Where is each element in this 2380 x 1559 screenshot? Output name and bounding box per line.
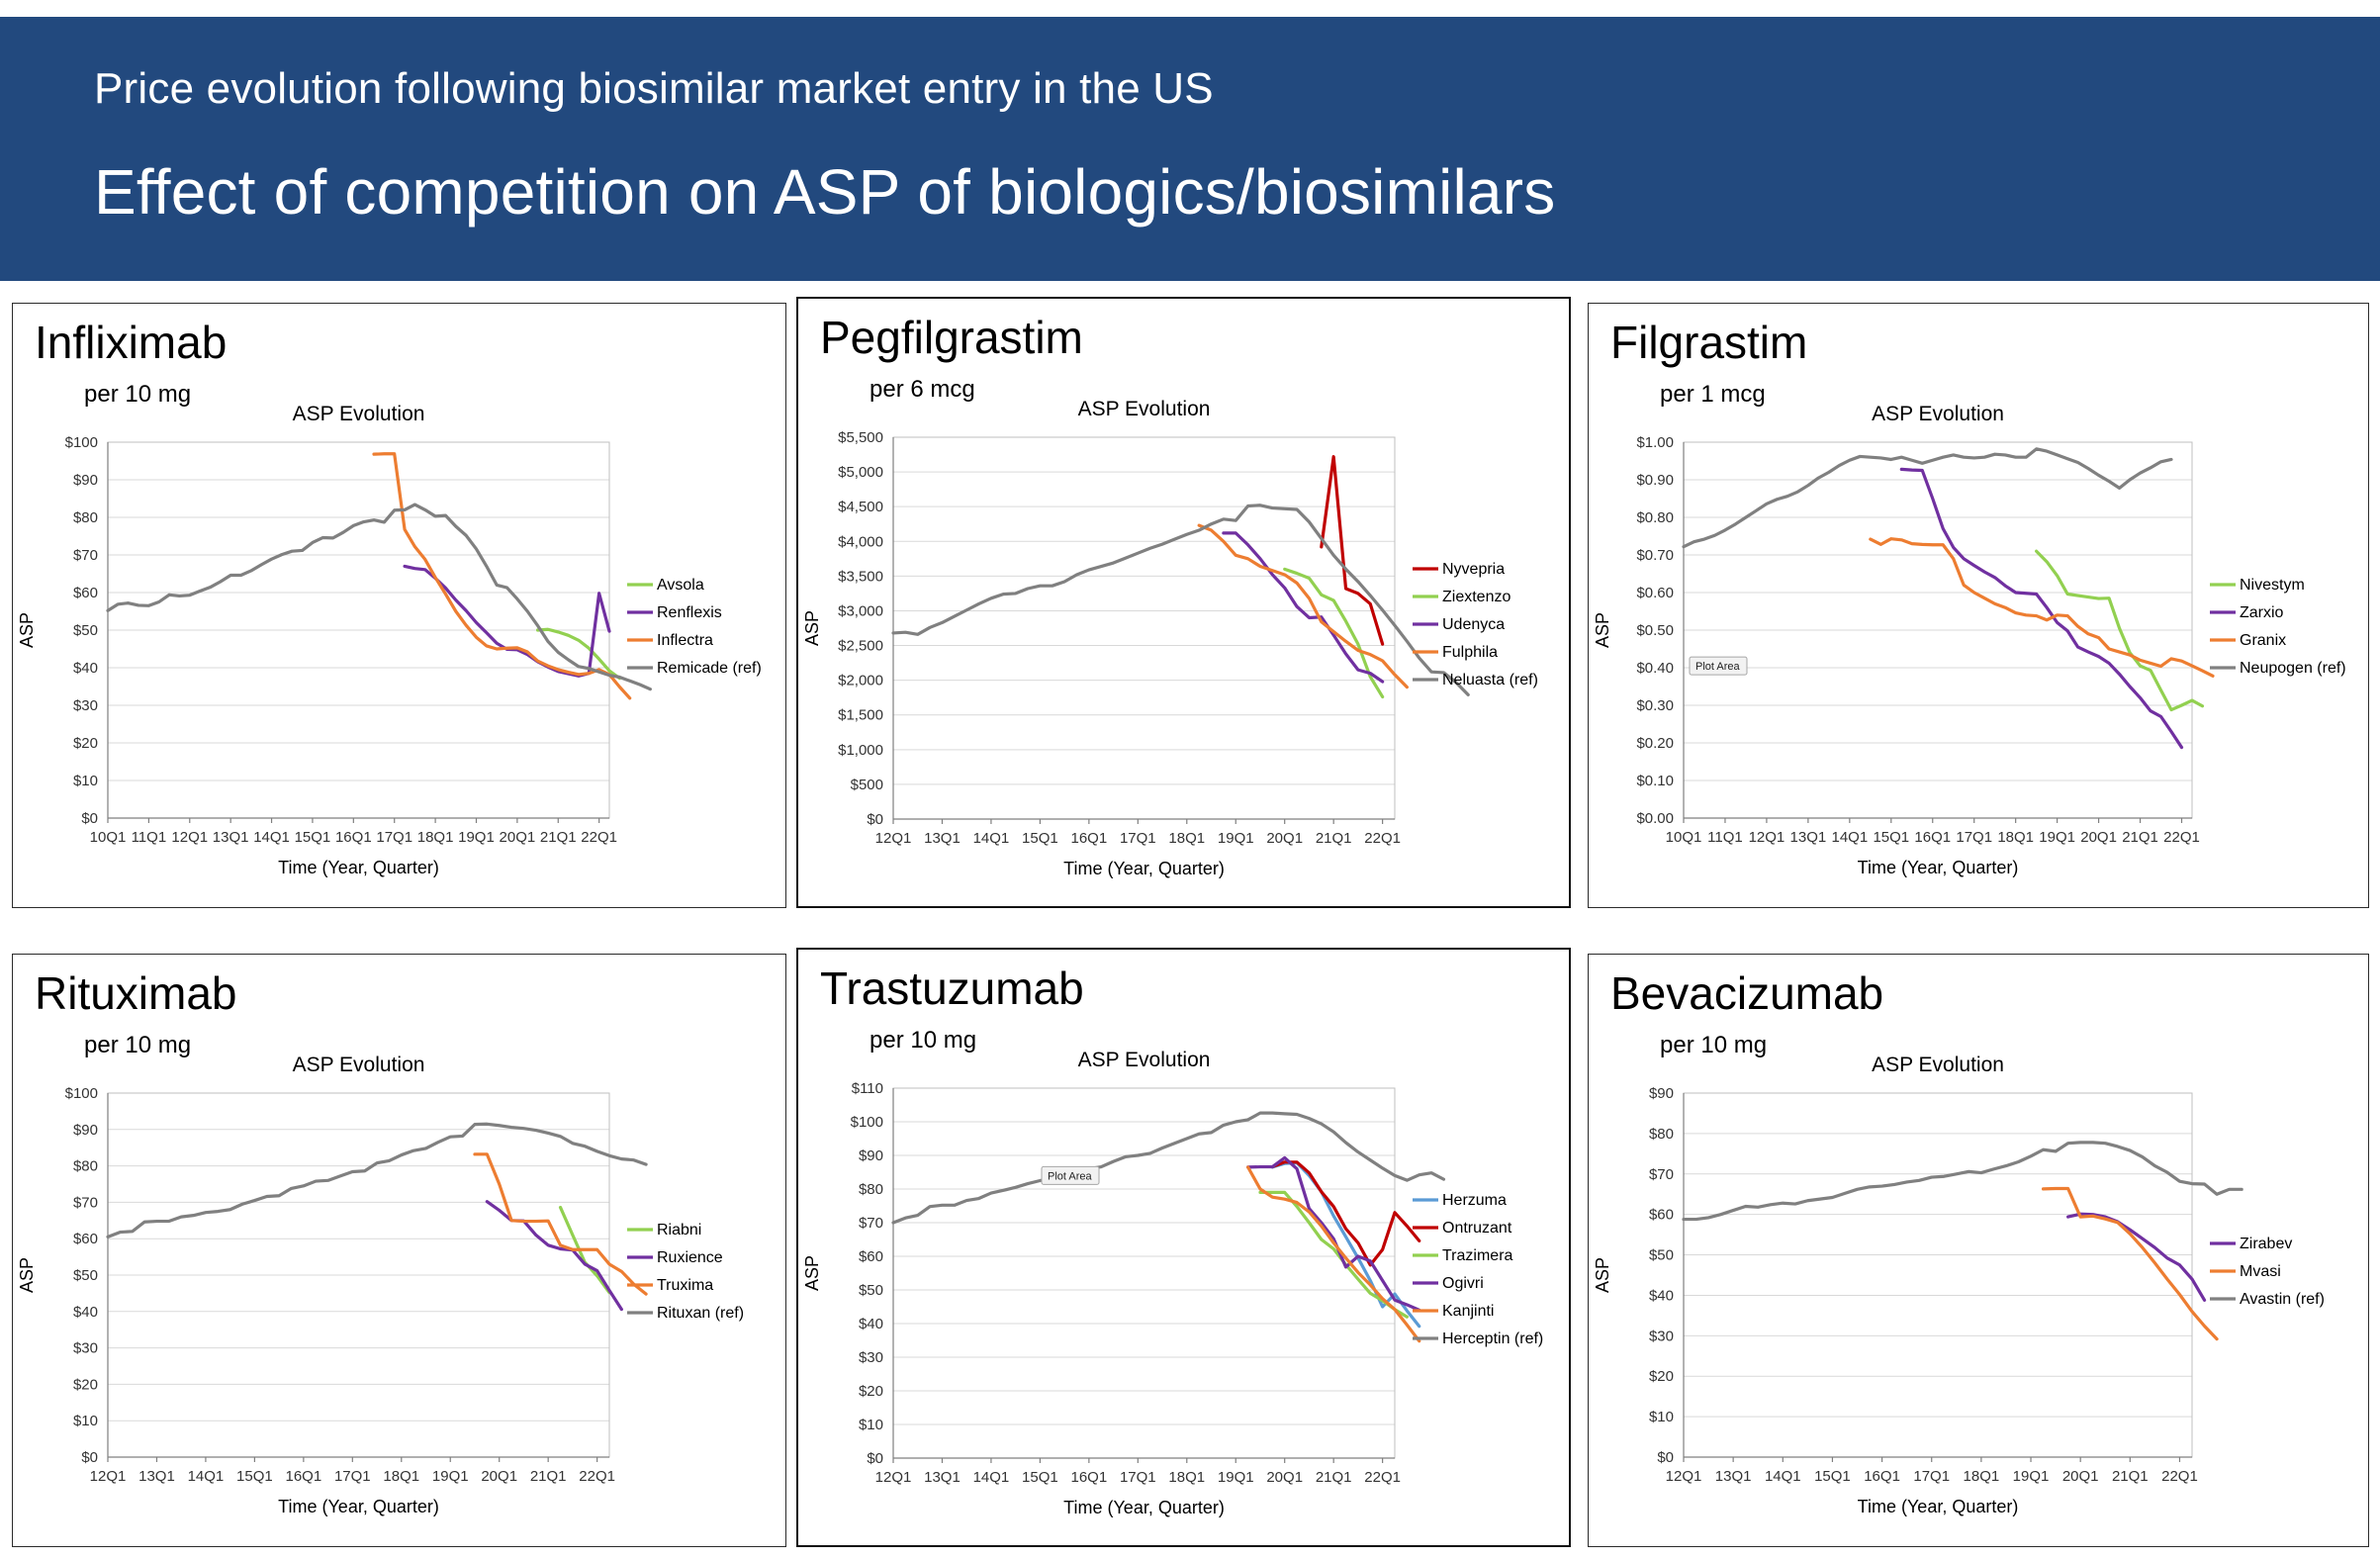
plot-area-frame: [893, 437, 1395, 819]
x-axis-tick-label: 17Q1: [334, 1468, 371, 1485]
y-axis-tick-label: $4,000: [838, 533, 883, 550]
y-axis-tick-label: $20: [859, 1383, 883, 1400]
y-axis-tick-label: $60: [73, 1231, 98, 1247]
series-line-neluasta-ref: [893, 505, 1468, 695]
legend-label-kanjinti[interactable]: Kanjinti: [1442, 1303, 1494, 1320]
asp-evolution-chart: ASP Evolution$0$500$1,000$1,500$2,000$2,…: [798, 394, 1569, 896]
x-axis-tick-label: 22Q1: [2161, 1468, 2198, 1485]
y-axis-tick-label: $10: [1649, 1409, 1674, 1425]
series-line-zirabev: [2068, 1214, 2205, 1300]
legend-label-neluasta-ref[interactable]: Neluasta (ref): [1442, 672, 1538, 688]
y-axis-tick-label: $20: [1649, 1368, 1674, 1385]
y-axis-tick-label: $80: [1649, 1126, 1674, 1143]
x-axis-tick-label: 22Q1: [2163, 829, 2200, 846]
x-axis-tick-label: 20Q1: [1266, 830, 1303, 847]
plot-area-frame: [1684, 1093, 2192, 1457]
x-axis-tick-label: 15Q1: [295, 829, 331, 846]
y-axis-tick-label: $70: [73, 547, 98, 564]
x-axis-label: Time (Year, Quarter): [1063, 859, 1225, 878]
y-axis-label: ASP: [802, 1255, 822, 1291]
x-axis-tick-label: 13Q1: [924, 830, 961, 847]
y-axis-tick-label: $90: [859, 1147, 883, 1164]
x-axis-tick-label: 15Q1: [1814, 1468, 1851, 1485]
panel-title-bevacizumab: Bevacizumab: [1610, 966, 1883, 1020]
legend-label-remicade-ref[interactable]: Remicade (ref): [657, 660, 762, 677]
x-axis-tick-label: 21Q1: [540, 829, 577, 846]
y-axis-tick-label: $0: [867, 811, 883, 828]
x-axis-tick-label: 19Q1: [1218, 830, 1254, 847]
x-axis-tick-label: 21Q1: [530, 1468, 567, 1485]
panel-title-infliximab: Infliximab: [35, 316, 227, 369]
legend-label-nyvepria[interactable]: Nyvepria: [1442, 561, 1505, 578]
x-axis-tick-label: 20Q1: [1266, 1469, 1303, 1486]
x-axis-tick-label: 16Q1: [1864, 1468, 1900, 1485]
y-axis-tick-label: $80: [73, 509, 98, 526]
y-axis-tick-label: $20: [73, 735, 98, 752]
chart-holder-trastuzumab: ASP Evolution$0$10$20$30$40$50$60$70$80$…: [798, 1045, 1569, 1535]
plot-area-tooltip-label: Plot Area: [1048, 1170, 1093, 1182]
legend-label-ziextenzo[interactable]: Ziextenzo: [1442, 589, 1510, 605]
x-axis-tick-label: 17Q1: [1913, 1468, 1950, 1485]
asp-evolution-chart: ASP Evolution$0.00$0.10$0.20$0.30$0.40$0…: [1589, 399, 2366, 895]
x-axis-tick-label: 14Q1: [188, 1468, 225, 1485]
y-axis-label: ASP: [17, 612, 37, 648]
x-axis-tick-label: 16Q1: [1071, 830, 1108, 847]
x-axis-tick-label: 18Q1: [417, 829, 454, 846]
panel-filgrastim: Filgrastimper 1 mcgASP Evolution$0.00$0.…: [1588, 303, 2369, 908]
y-axis-tick-label: $1.00: [1636, 434, 1674, 451]
y-axis-tick-label: $30: [1649, 1328, 1674, 1344]
header-subtitle: Price evolution following biosimilar mar…: [94, 64, 1214, 114]
y-axis-tick-label: $0.10: [1636, 773, 1674, 789]
panel-trastuzumab: Trastuzumabper 10 mgASP Evolution$0$10$2…: [796, 948, 1571, 1547]
y-axis-tick-label: $80: [73, 1158, 98, 1175]
panel-rituximab: Rituximabper 10 mgASP Evolution$0$10$20$…: [12, 954, 786, 1547]
chart-holder-filgrastim: ASP Evolution$0.00$0.10$0.20$0.30$0.40$0…: [1589, 399, 2368, 895]
y-axis-tick-label: $500: [851, 777, 883, 793]
series-line-neupogen-ref: [1684, 449, 2171, 547]
legend-label-herzuma[interactable]: Herzuma: [1442, 1192, 1507, 1209]
y-axis-tick-label: $80: [859, 1181, 883, 1198]
legend-label-granix[interactable]: Granix: [2240, 632, 2286, 649]
series-line-truxima: [475, 1154, 646, 1294]
x-axis-tick-label: 14Q1: [973, 1469, 1010, 1486]
legend-label-udenyca[interactable]: Udenyca: [1442, 616, 1505, 633]
series-line-herceptin-ref: [893, 1113, 1443, 1223]
panel-infliximab: Infliximabper 10 mgASP Evolution$0$10$20…: [12, 303, 786, 908]
series-line-udenyca: [1224, 533, 1383, 682]
x-axis-tick-label: 19Q1: [2013, 1468, 2050, 1485]
y-axis-tick-label: $0.80: [1636, 509, 1674, 526]
legend-label-ogivri[interactable]: Ogivri: [1442, 1275, 1484, 1292]
x-axis-tick-label: 20Q1: [481, 1468, 517, 1485]
legend-label-zarxio[interactable]: Zarxio: [2240, 604, 2284, 621]
x-axis-tick-label: 20Q1: [2062, 1468, 2099, 1485]
series-line-avastin-ref: [1684, 1143, 2242, 1220]
y-axis-tick-label: $2,000: [838, 673, 883, 689]
x-axis-tick-label: 18Q1: [383, 1468, 419, 1485]
y-axis-tick-label: $0.50: [1636, 622, 1674, 639]
chart-title: ASP Evolution: [1078, 1049, 1211, 1071]
y-axis-tick-label: $0: [81, 810, 98, 827]
x-axis-tick-label: 20Q1: [500, 829, 536, 846]
y-axis-tick-label: $110: [852, 1080, 883, 1097]
series-line-mvasi: [2044, 1189, 2218, 1339]
legend-label-ruxience[interactable]: Ruxience: [657, 1249, 723, 1266]
panel-title-pegfilgrastim: Pegfilgrastim: [820, 311, 1083, 364]
x-axis-tick-label: 14Q1: [973, 830, 1010, 847]
chart-title: ASP Evolution: [293, 403, 425, 425]
chart-holder-bevacizumab: ASP Evolution$0$10$20$30$40$50$60$70$80$…: [1589, 1050, 2368, 1534]
x-axis-tick-label: 11Q1: [1707, 829, 1743, 846]
legend-label-fulphila[interactable]: Fulphila: [1442, 644, 1498, 661]
x-axis-tick-label: 14Q1: [253, 829, 290, 846]
header-title: Effect of competition on ASP of biologic…: [94, 155, 1555, 229]
y-axis-tick-label: $70: [859, 1215, 883, 1232]
x-axis-tick-label: 12Q1: [171, 829, 208, 846]
x-axis-tick-label: 19Q1: [1218, 1469, 1254, 1486]
legend-label-ontruzant[interactable]: Ontruzant: [1442, 1220, 1512, 1237]
chart-holder-pegfilgrastim: ASP Evolution$0$500$1,000$1,500$2,000$2,…: [798, 394, 1569, 896]
y-axis-tick-label: $90: [73, 1122, 98, 1139]
x-axis-tick-label: 15Q1: [1873, 829, 1909, 846]
plot-area-frame: [893, 1088, 1395, 1458]
panel-title-filgrastim: Filgrastim: [1610, 316, 1807, 369]
series-line-remicade-ref: [108, 504, 650, 689]
legend-label-avastin-ref[interactable]: Avastin (ref): [2240, 1291, 2325, 1308]
x-axis-tick-label: 15Q1: [1022, 830, 1058, 847]
y-axis-tick-label: $100: [65, 1085, 98, 1102]
series-line-trazimera: [1260, 1192, 1407, 1317]
y-axis-label: ASP: [17, 1257, 37, 1293]
y-axis-tick-label: $0.20: [1636, 735, 1674, 752]
chart-title: ASP Evolution: [293, 1054, 425, 1076]
y-axis-tick-label: $50: [73, 1267, 98, 1284]
y-axis-label: ASP: [1593, 1257, 1612, 1293]
x-axis-tick-label: 20Q1: [2080, 829, 2117, 846]
panel-title-rituximab: Rituximab: [35, 966, 237, 1020]
legend-label-inflectra[interactable]: Inflectra: [657, 632, 713, 649]
x-axis-tick-label: 16Q1: [286, 1468, 322, 1485]
x-axis-tick-label: 21Q1: [2112, 1468, 2149, 1485]
x-axis-label: Time (Year, Quarter): [1858, 1497, 2019, 1516]
x-axis-tick-label: 10Q1: [1666, 829, 1702, 846]
panel-title-trastuzumab: Trastuzumab: [820, 962, 1084, 1015]
legend-label-nivestym[interactable]: Nivestym: [2240, 577, 2305, 594]
y-axis-label: ASP: [1593, 612, 1612, 648]
y-axis-tick-label: $5,000: [838, 464, 883, 481]
slide-root: Price evolution following biosimilar mar…: [0, 0, 2380, 1559]
x-axis-tick-label: 18Q1: [1168, 1469, 1205, 1486]
x-axis-tick-label: 13Q1: [1715, 1468, 1752, 1485]
series-line-renflexis: [405, 566, 609, 676]
chart-holder-rituximab: ASP Evolution$0$10$20$30$40$50$60$70$80$…: [13, 1050, 785, 1534]
legend-label-herceptin-ref[interactable]: Herceptin (ref): [1442, 1330, 1543, 1347]
asp-evolution-chart: ASP Evolution$0$10$20$30$40$50$60$70$80$…: [798, 1045, 1569, 1535]
legend-label-rituxan-ref[interactable]: Rituxan (ref): [657, 1305, 744, 1322]
y-axis-tick-label: $100: [65, 434, 98, 451]
y-axis-tick-label: $0.90: [1636, 472, 1674, 489]
x-axis-tick-label: 18Q1: [1964, 1468, 2000, 1485]
x-axis-tick-label: 12Q1: [1749, 829, 1785, 846]
x-axis-tick-label: 11Q1: [132, 829, 167, 846]
x-axis-tick-label: 18Q1: [1997, 829, 2034, 846]
x-axis-tick-label: 22Q1: [1364, 830, 1401, 847]
x-axis-tick-label: 17Q1: [1120, 830, 1156, 847]
legend-label-trazimera[interactable]: Trazimera: [1442, 1247, 1513, 1264]
x-axis-tick-label: 12Q1: [90, 1468, 127, 1485]
y-axis-tick-label: $90: [1649, 1085, 1674, 1102]
y-axis-tick-label: $70: [73, 1194, 98, 1211]
y-axis-tick-label: $30: [73, 697, 98, 714]
x-axis-tick-label: 17Q1: [376, 829, 412, 846]
y-axis-tick-label: $5,500: [838, 429, 883, 446]
plot-area-tooltip: Plot Area: [1690, 657, 1747, 675]
header-banner: Price evolution following biosimilar mar…: [0, 17, 2380, 281]
x-axis-tick-label: 17Q1: [1956, 829, 1992, 846]
y-axis-tick-label: $0.70: [1636, 547, 1674, 564]
x-axis-tick-label: 22Q1: [1364, 1469, 1401, 1486]
y-axis-tick-label: $10: [859, 1417, 883, 1433]
y-axis-tick-label: $0.00: [1636, 810, 1674, 827]
panel-bevacizumab: Bevacizumabper 10 mgASP Evolution$0$10$2…: [1588, 954, 2369, 1547]
y-axis-tick-label: $60: [859, 1248, 883, 1265]
y-axis-tick-label: $3,000: [838, 602, 883, 619]
legend-label-mvasi[interactable]: Mvasi: [2240, 1263, 2281, 1280]
y-axis-tick-label: $0: [867, 1450, 883, 1467]
y-axis-tick-label: $30: [73, 1340, 98, 1357]
x-axis-tick-label: 15Q1: [236, 1468, 273, 1485]
x-axis-tick-label: 22Q1: [579, 1468, 615, 1485]
series-line-avsola: [538, 629, 620, 678]
x-axis-tick-label: 13Q1: [924, 1469, 961, 1486]
asp-evolution-chart: ASP Evolution$0$10$20$30$40$50$60$70$80$…: [13, 1050, 783, 1534]
y-axis-tick-label: $1,000: [838, 742, 883, 759]
y-axis-tick-label: $50: [859, 1282, 883, 1299]
x-axis-tick-label: 17Q1: [1120, 1469, 1156, 1486]
x-axis-label: Time (Year, Quarter): [278, 858, 439, 877]
legend-label-truxima[interactable]: Truxima: [657, 1277, 713, 1294]
y-axis-tick-label: $1,500: [838, 707, 883, 724]
legend-label-avsola[interactable]: Avsola: [657, 577, 704, 594]
legend-label-renflexis[interactable]: Renflexis: [657, 604, 722, 621]
x-axis-tick-label: 14Q1: [1831, 829, 1868, 846]
x-axis-label: Time (Year, Quarter): [1858, 858, 2019, 877]
y-axis-tick-label: $2,500: [838, 638, 883, 655]
y-axis-tick-label: $3,500: [838, 568, 883, 585]
asp-evolution-chart: ASP Evolution$0$10$20$30$40$50$60$70$80$…: [13, 399, 783, 895]
y-axis-tick-label: $50: [73, 622, 98, 639]
legend-label-neupogen-ref[interactable]: Neupogen (ref): [2240, 660, 2346, 677]
x-axis-tick-label: 21Q1: [1316, 830, 1352, 847]
x-axis-tick-label: 12Q1: [1666, 1468, 1702, 1485]
x-axis-tick-label: 13Q1: [138, 1468, 175, 1485]
y-axis-tick-label: $40: [1649, 1287, 1674, 1304]
chart-title: ASP Evolution: [1872, 403, 2004, 425]
x-axis-tick-label: 15Q1: [1022, 1469, 1058, 1486]
x-axis-tick-label: 19Q1: [2039, 829, 2075, 846]
y-axis-tick-label: $0.40: [1636, 660, 1674, 677]
x-axis-tick-label: 10Q1: [90, 829, 127, 846]
x-axis-tick-label: 19Q1: [458, 829, 495, 846]
x-axis-tick-label: 16Q1: [1071, 1469, 1108, 1486]
y-axis-tick-label: $40: [859, 1316, 883, 1332]
y-axis-tick-label: $20: [73, 1376, 98, 1393]
x-axis-label: Time (Year, Quarter): [278, 1497, 439, 1516]
series-line-granix: [1871, 539, 2213, 677]
y-axis-tick-label: $60: [1649, 1207, 1674, 1224]
x-axis-tick-label: 12Q1: [875, 1469, 912, 1486]
asp-evolution-chart: ASP Evolution$0$10$20$30$40$50$60$70$80$…: [1589, 1050, 2366, 1534]
y-axis-tick-label: $70: [1649, 1166, 1674, 1183]
x-axis-tick-label: 13Q1: [1790, 829, 1827, 846]
legend-label-riabni[interactable]: Riabni: [657, 1222, 701, 1238]
y-axis-tick-label: $4,500: [838, 499, 883, 515]
x-axis-tick-label: 21Q1: [1316, 1469, 1352, 1486]
x-axis-tick-label: 21Q1: [2122, 829, 2158, 846]
y-axis-label: ASP: [802, 610, 822, 646]
y-axis-tick-label: $50: [1649, 1247, 1674, 1264]
y-axis-tick-label: $0: [1657, 1449, 1674, 1466]
y-axis-tick-label: $0.30: [1636, 697, 1674, 714]
x-axis-tick-label: 16Q1: [1914, 829, 1951, 846]
panel-pegfilgrastim: Pegfilgrastimper 6 mcgASP Evolution$0$50…: [796, 297, 1571, 908]
chart-title: ASP Evolution: [1872, 1054, 2004, 1076]
y-axis-tick-label: $0.60: [1636, 585, 1674, 601]
legend-label-zirabev[interactable]: Zirabev: [2240, 1236, 2292, 1252]
plot-area-tooltip: Plot Area: [1042, 1166, 1099, 1184]
x-axis-tick-label: 19Q1: [432, 1468, 469, 1485]
y-axis-tick-label: $10: [73, 773, 98, 789]
series-line-fulphila: [1199, 525, 1407, 688]
y-axis-tick-label: $40: [73, 1304, 98, 1321]
plot-area-tooltip-label: Plot Area: [1695, 661, 1741, 673]
x-axis-tick-label: 12Q1: [875, 830, 912, 847]
x-axis-tick-label: 14Q1: [1765, 1468, 1801, 1485]
x-axis-tick-label: 22Q1: [581, 829, 617, 846]
x-axis-tick-label: 13Q1: [213, 829, 249, 846]
y-axis-tick-label: $60: [73, 585, 98, 601]
y-axis-tick-label: $10: [73, 1413, 98, 1429]
x-axis-label: Time (Year, Quarter): [1063, 1498, 1225, 1517]
y-axis-tick-label: $100: [851, 1114, 883, 1131]
chart-holder-infliximab: ASP Evolution$0$10$20$30$40$50$60$70$80$…: [13, 399, 785, 895]
y-axis-tick-label: $90: [73, 472, 98, 489]
y-axis-tick-label: $0: [81, 1449, 98, 1466]
x-axis-tick-label: 16Q1: [335, 829, 372, 846]
y-axis-tick-label: $30: [859, 1349, 883, 1366]
series-line-ogivri: [1248, 1157, 1419, 1310]
y-axis-tick-label: $40: [73, 660, 98, 677]
x-axis-tick-label: 18Q1: [1168, 830, 1205, 847]
chart-title: ASP Evolution: [1078, 398, 1211, 420]
